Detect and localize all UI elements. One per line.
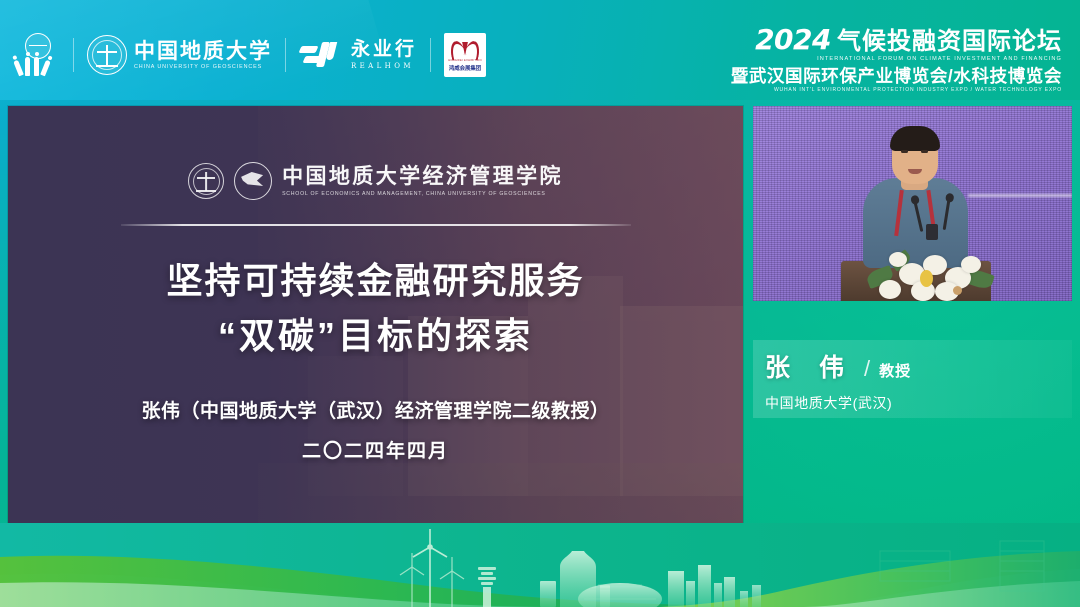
logo-divider (430, 38, 431, 72)
presentation-slide[interactable]: 中国地质大学经济管理学院 SCHOOL OF ECONOMICS AND MAN… (8, 106, 743, 523)
school-logo: 中国地质大学经济管理学院 SCHOOL OF ECONOMICS AND MAN… (188, 162, 563, 200)
seal-base-bar (96, 65, 118, 67)
flower-bouquet (865, 239, 995, 301)
university-name-en: CHINA UNIVERSITY OF GEOSCIENCES (134, 64, 272, 70)
sponsor-logo-row: 中国地质大学 CHINA UNIVERSITY OF GEOSCIENCES 永… (14, 30, 486, 80)
realhom-name-cn: 永业行 (351, 40, 417, 59)
hongwei-name-cn: 鸿威会展集团 (449, 64, 481, 72)
logo-divider (285, 38, 286, 72)
speaker-eye-left (901, 150, 908, 153)
seal-vertical-bar (106, 45, 108, 66)
figure-icon (34, 57, 39, 76)
logo-realhom: 永业行 REALHOM (299, 40, 417, 70)
school-dove-icon (234, 162, 272, 200)
slide-date: 二〇二四年四月 (302, 436, 449, 463)
name-separator: / (864, 356, 870, 382)
slide-author: 张伟（中国地质大学（武汉）经济管理学院二级教授） (141, 396, 609, 423)
realhom-mark-icon (299, 40, 343, 70)
forum-branding: 2024 气候投融资国际论坛 INTERNATIONAL FORUM ON CL… (731, 26, 1062, 93)
speaker-affiliation: 中国地质大学(武汉) (765, 393, 1072, 413)
figure-icon (40, 60, 51, 77)
school-name-cn: 中国地质大学经济管理学院 (282, 165, 563, 186)
school-seal-icon (188, 163, 224, 199)
speaker-eye-right (921, 150, 928, 153)
speaker-name: 张 伟 (765, 348, 855, 384)
led-light-strip (968, 194, 1072, 197)
university-name-cn: 中国地质大学 (134, 40, 272, 61)
bottom-graphic (0, 523, 1080, 607)
bottom-decoration-band (0, 523, 1080, 607)
forum-title-en: INTERNATIONAL FORUM ON CLIMATE INVESTMEN… (731, 57, 1062, 63)
figure-icon (13, 60, 24, 77)
slide-divider-line (121, 224, 631, 226)
slide-title: 坚持可持续金融研究服务 “双碳”目标的探索 (166, 253, 584, 365)
speaker-info-panel: 张 伟 / 教授 中国地质大学(武汉) (753, 340, 1072, 418)
forum-subtitle-cn: 暨武汉国际环保产业博览会/水科技博览会 (731, 68, 1062, 86)
university-seal-icon (87, 35, 127, 75)
school-name-en: SCHOOL OF ECONOMICS AND MANAGEMENT, CHIN… (282, 191, 563, 197)
speaker-video-feed[interactable] (753, 106, 1072, 301)
forum-emblem-icon (14, 32, 60, 78)
logo-hongwei-group: HONGWEI EXHIBITION 鸿威会展集团 (444, 33, 486, 77)
seal-horizontal-bar (97, 51, 117, 53)
speaker-title: 教授 (879, 360, 911, 381)
name-badge (926, 224, 938, 240)
slide-title-line-1: 坚持可持续金融研究服务 (166, 253, 584, 309)
speaker-hair (890, 126, 940, 151)
broadcast-screen: 中国地质大学 CHINA UNIVERSITY OF GEOSCIENCES 永… (0, 0, 1080, 607)
logo-china-university-of-geosciences: 中国地质大学 CHINA UNIVERSITY OF GEOSCIENCES (87, 35, 272, 75)
realhom-name-en: REALHOM (351, 62, 417, 70)
forum-title-cn: 气候投融资国际论坛 (837, 30, 1062, 54)
wing-mark-icon (450, 41, 480, 58)
slide-title-line-2: “双碳”目标的探索 (166, 308, 584, 364)
forum-year: 2024 (755, 26, 831, 54)
figure-icon (25, 57, 30, 76)
forum-subtitle-en: WUHAN INT'L ENVIRONMENTAL PROTECTION IND… (731, 88, 1062, 93)
logo-divider (73, 38, 74, 72)
